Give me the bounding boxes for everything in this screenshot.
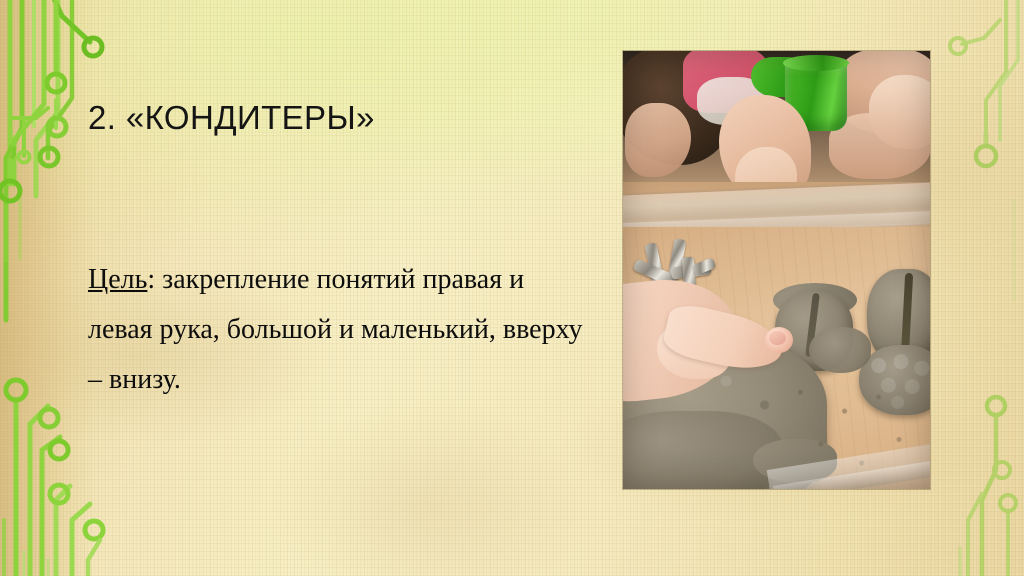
body-lead-label: Цель <box>88 264 147 295</box>
slide-title: 2. «КОНДИТЕРЫ» <box>88 99 568 137</box>
body-rest-text: : закрепление понятий правая и левая рук… <box>88 264 583 395</box>
background-left-band <box>0 0 96 576</box>
presentation-slide: 2. «КОНДИТЕРЫ» Цель: закрепление понятий… <box>0 0 1024 576</box>
slide-body-text: Цель: закрепление понятий правая и левая… <box>88 255 588 405</box>
photo-vignette <box>623 51 930 489</box>
slide-photo <box>623 51 930 489</box>
